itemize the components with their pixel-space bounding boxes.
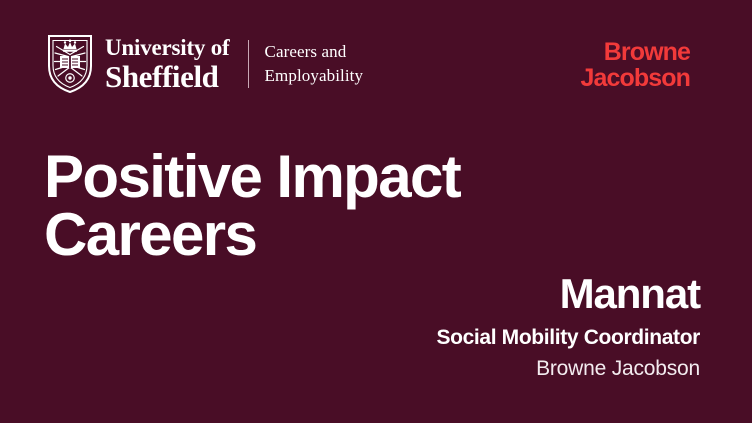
logo-divider: [248, 40, 249, 88]
speaker-role: Social Mobility Coordinator: [260, 324, 700, 351]
slide-title: Positive Impact Careers: [44, 148, 460, 264]
speaker-block: Mannat Social Mobility Coordinator Brown…: [260, 272, 700, 382]
university-name-line2: Sheffield: [105, 61, 230, 92]
speaker-name: Mannat: [260, 272, 700, 317]
university-name-line1: University of: [105, 36, 230, 60]
university-logo-lockup: University of Sheffield Careers and Empl…: [47, 33, 363, 95]
department-name: Careers and Employability: [265, 40, 364, 88]
sheffield-crest-icon: [47, 34, 93, 94]
partner-logo-line2: Jacobson: [581, 66, 691, 92]
browne-jacobson-logo: Browne Jacobson: [581, 40, 691, 91]
university-wordmark: University of Sheffield: [105, 36, 230, 92]
presentation-slide: University of Sheffield Careers and Empl…: [0, 0, 752, 423]
partner-logo-line1: Browne: [581, 40, 691, 66]
speaker-organisation: Browne Jacobson: [260, 355, 700, 382]
